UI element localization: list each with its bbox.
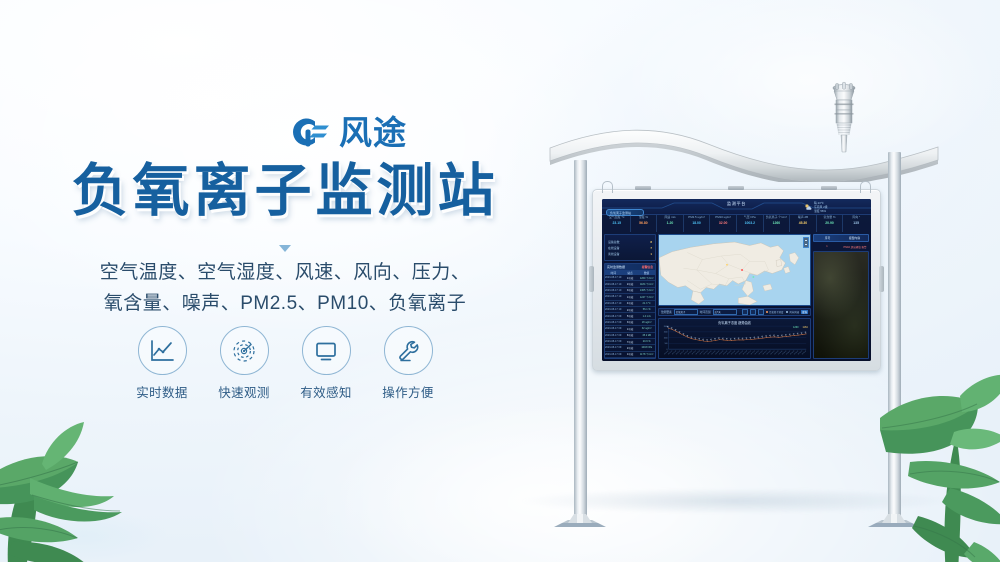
feature-label: 操作方便	[382, 382, 434, 401]
cabinet-side-tab-right	[879, 266, 884, 292]
filter-select-range[interactable]: 近7天	[713, 309, 737, 315]
table-cell: 6号站	[622, 333, 639, 337]
chart-view-button-1[interactable]	[742, 309, 748, 315]
table-cell: 18 ug/m³	[638, 321, 655, 324]
metric-label: 噪声 dB	[798, 215, 808, 219]
chart-filter-bar: 监测要素 负氧离子 时间范围 近7天	[658, 308, 811, 316]
alarm-row[interactable]: 1PM10 超出阈值 报警	[813, 244, 869, 249]
wave-canopy	[548, 122, 940, 182]
chart-query-button[interactable]: 查询	[801, 310, 808, 314]
metric-label: 负氧离子 个/cm³	[766, 215, 787, 219]
table-cell: 4号站	[622, 301, 639, 305]
metric-value: 20.90	[825, 221, 834, 225]
device-stat-row: 设备总数8	[608, 240, 652, 244]
table-cell: 1247 个/cm³	[638, 295, 655, 299]
feature-label: 快速观测	[218, 382, 270, 401]
table-header-cell: 数值	[638, 271, 655, 275]
center-column: 监测要素 负氧离子 时间范围 近7天	[658, 234, 811, 359]
alarm-body: 1PM10 超出阈值 报警	[813, 244, 869, 249]
svg-text:500: 500	[665, 343, 668, 345]
metric-label: PM10 ug/m³	[715, 215, 731, 219]
weather-widget: 晴 23℃ 东南风 2级 湿度 56%	[804, 201, 868, 213]
table-cell: 1184 个/cm³	[638, 282, 655, 286]
table-cell: 2023-08-17 09:40	[605, 334, 622, 337]
metric-value: 1.20	[667, 221, 674, 225]
table-cell: 1305 个/cm³	[638, 288, 655, 292]
cabinet-clip-2	[728, 186, 744, 190]
device-stat-label: 离线设备	[608, 252, 620, 256]
support-post-left	[574, 160, 587, 520]
table-cell: 2023-08-17 10:15	[605, 289, 622, 292]
table-cell: 5号站	[622, 314, 639, 318]
dashboard-header: 监测平台 晴 23℃ 东南风 2级 湿度 5	[602, 199, 871, 215]
metric-card: 风向 °135	[843, 215, 869, 232]
filter-label-element: 监测要素	[661, 310, 672, 314]
device-stat-value: 8	[650, 240, 652, 244]
table-cell: 1003 hPa	[638, 346, 655, 349]
table-caption-text: 实时监测数据	[607, 265, 625, 269]
metric-label: 空气温度 ℃	[609, 215, 625, 219]
table-cell: 3号站	[622, 288, 639, 292]
spec-line-1: 空气温度、空气湿度、风速、风向、压力、	[0, 258, 570, 289]
metric-card: 湿度 %56.80	[631, 215, 658, 232]
table-cell: 1号站	[622, 327, 639, 331]
feature-item-fast-observation[interactable]: 快速观测	[217, 326, 272, 401]
table-header-cell: 站点	[622, 271, 639, 275]
metric-label: 风速 m/s	[664, 215, 675, 219]
left-column: 设备总数8在线设备7离线设备1 实时监测数据 报警信息 时间站点数值 2023-…	[604, 234, 656, 359]
metric-strip: 空气温度 ℃23.15湿度 %56.80风速 m/s1.20PM2.5 ug/m…	[604, 215, 869, 232]
base-plate-left	[552, 512, 608, 530]
table-cell: 1号站	[622, 295, 639, 299]
device-stat-row: 在线设备7	[608, 246, 652, 250]
device-stat-label: 在线设备	[608, 246, 620, 250]
metric-value: 1260	[773, 221, 781, 225]
hanger-right-icon	[860, 181, 871, 193]
cabinet-side-tab-left	[589, 266, 594, 292]
chart-view-button-3[interactable]	[758, 309, 764, 315]
table-cell: 2023-08-17 10:00	[605, 308, 622, 311]
metric-card: 负氧离子 个/cm³1260	[764, 215, 791, 232]
table-cell: 2号站	[622, 308, 639, 312]
metric-value: 45.30	[799, 221, 808, 225]
table-row[interactable]: 2023-08-17 09:251号站1178 个/cm³	[605, 352, 655, 358]
legend-dot-1	[766, 311, 768, 313]
metric-card: PM2.5 ug/m³18.00	[684, 215, 711, 232]
filter-select-element-value: 负氧离子	[676, 310, 686, 314]
decorative-plant-bottom-left	[0, 378, 172, 562]
table-header-row: 时间站点数值	[605, 270, 655, 275]
decorative-plant-bottom-right	[850, 366, 1000, 562]
brand-lockup: 风途	[285, 112, 407, 152]
dashboard: 监测平台 晴 23℃ 东南风 2级 湿度 5	[602, 199, 871, 361]
device-stat-value: 7	[650, 246, 652, 250]
table-cell: 2023-08-17 10:10	[605, 295, 622, 298]
table-cell: 2023-08-17 10:25	[605, 276, 622, 279]
chart-legend: 负氧离子浓度 风向风速	[766, 310, 799, 314]
spec-list: 空气温度、空气湿度、风速、风向、压力、 氧含量、噪声、PM2.5、PM10、负氧…	[0, 258, 570, 320]
table-cell: 2号站	[622, 282, 639, 286]
display-screen[interactable]: 监测平台 晴 23℃ 东南风 2级 湿度 5	[602, 199, 871, 361]
monitor-icon	[302, 326, 351, 375]
table-cell: 2023-08-17 09:45	[605, 327, 622, 330]
metric-value: 18.00	[692, 221, 701, 225]
legend-item-2: 风向风速	[786, 310, 799, 314]
table-caption-alert: 报警信息	[642, 265, 653, 269]
wind-g-logo-icon	[285, 112, 331, 152]
alarm-cell: PM10 超出阈值 报警	[841, 245, 869, 249]
cabinet-clip-3	[821, 186, 837, 190]
device-stats-panel: 设备总数8在线设备7离线设备1	[604, 234, 656, 261]
map-zoom-control[interactable]	[803, 237, 809, 248]
table-cell: 1178 个/cm³	[638, 352, 655, 356]
table-body: 2023-08-17 10:251号站1260 个/cm³2023-08-17 …	[605, 275, 655, 358]
table-cell: 1260 个/cm³	[638, 276, 655, 280]
table-cell: 32 ug/m³	[638, 327, 655, 330]
feature-item-effective-sensing[interactable]: 有效感知	[299, 326, 354, 401]
display-cabinet: 监测平台 晴 23℃ 东南风 2级 湿度 5	[592, 189, 881, 371]
legend-label-1: 负氧离子浓度	[769, 311, 783, 314]
table-cell: 2023-08-17 09:50	[605, 321, 622, 324]
table-cell: 2023-08-17 09:55	[605, 315, 622, 318]
realtime-data-table[interactable]: 实时监测数据 报警信息 时间站点数值 2023-08-17 10:251号站12…	[604, 263, 656, 359]
table-cell: 2023-08-17 09:30	[605, 346, 622, 349]
device-stat-row: 离线设备1	[608, 252, 652, 256]
camera-feed[interactable]	[813, 251, 869, 359]
filter-label-range: 时间范围	[700, 310, 711, 314]
metric-value: 32.00	[719, 221, 728, 225]
trend-chart-plot: 2000150010005000	[659, 319, 810, 358]
metric-card: 噪声 dB45.30	[790, 215, 817, 232]
metric-value: 56.80	[639, 221, 648, 225]
metric-card: 空气温度 ℃23.15	[604, 215, 631, 232]
line-chart-icon	[138, 326, 187, 375]
feature-label: 有效感知	[300, 382, 352, 401]
table-cell: 1.4 m/s	[638, 315, 655, 318]
metric-card: 气压 hPa1003.2	[737, 215, 764, 232]
hanger-left-icon	[602, 181, 613, 193]
right-column: 序号报警内容 1PM10 超出阈值 报警	[813, 234, 869, 359]
alarm-cell: 1	[813, 245, 841, 248]
metric-card: 氧含量 %20.90	[817, 215, 844, 232]
table-cell: 2号站	[622, 346, 639, 350]
metric-card: 风速 m/s1.20	[657, 215, 684, 232]
promo-banner: 风途 负氧离子监测站 空气温度、空气湿度、风速、风向、压力、 氧含量、噪声、PM…	[0, 0, 1000, 562]
trend-chart[interactable]: 负氧离子浓度 趋势曲线 2000150010005000	[658, 318, 811, 359]
cabinet-clip-1	[635, 186, 651, 190]
svg-text:08-16 20: 08-16 20	[802, 350, 808, 355]
filter-select-range-value: 近7天	[715, 310, 721, 314]
metric-value: 135	[853, 221, 859, 225]
svg-text:1000: 1000	[664, 338, 668, 340]
dashboard-body: 设备总数8在线设备7离线设备1 实时监测数据 报警信息 时间站点数值 2023-…	[604, 234, 869, 359]
table-cell: 56.1 %	[638, 308, 655, 311]
weather-line-3: 湿度 56%	[814, 209, 828, 213]
china-map[interactable]	[658, 234, 811, 306]
station-name-label: 负氧离子监测站	[610, 211, 631, 215]
table-header-cell: 时间	[605, 271, 622, 275]
table-cell: 1号站	[622, 352, 639, 356]
table-cell: 2023-08-17 09:25	[605, 353, 622, 356]
device-stat-label: 设备总数	[608, 240, 620, 244]
table-cell: 7号站	[622, 340, 639, 344]
alarm-header-cell: 报警内容	[841, 236, 868, 240]
alarm-header-cell: 序号	[814, 236, 841, 240]
metric-label: 气压 hPa	[744, 215, 756, 219]
brand-name: 风途	[339, 116, 407, 149]
divider-arrow-icon	[279, 245, 291, 252]
legend-label-2: 风向风速	[789, 311, 799, 314]
table-cell: 1号站	[622, 276, 639, 280]
device-stat-value: 1	[650, 252, 652, 256]
svg-text:1500: 1500	[664, 332, 668, 334]
alarm-header-row: 序号报警内容	[813, 234, 869, 242]
table-cell: 2023-08-17 10:05	[605, 302, 622, 305]
table-cell: 20.9 %	[638, 340, 655, 343]
table-cell: 3号站	[622, 320, 639, 324]
radar-signal-icon	[220, 326, 269, 375]
metric-value: 1003.2	[745, 221, 755, 225]
metric-label: 风向 °	[852, 215, 860, 219]
chart-toolbar: 负氧离子浓度 风向风速 查询	[742, 309, 808, 315]
svg-text:1184: 1184	[802, 326, 808, 329]
svg-text:1260: 1260	[793, 326, 799, 329]
table-cell: 2023-08-17 09:35	[605, 340, 622, 343]
metric-label: PM2.5 ug/m³	[688, 215, 705, 219]
table-cell: 2023-08-17 10:20	[605, 283, 622, 286]
wrench-icon	[384, 326, 433, 375]
metric-value: 23.15	[613, 221, 622, 225]
page-title: 负氧离子监测站	[0, 160, 570, 224]
spec-line-2: 氧含量、噪声、PM2.5、PM10、负氧离子	[0, 289, 570, 320]
table-cell: 45.2 dB	[638, 334, 655, 337]
metric-label: 湿度 %	[639, 215, 648, 219]
feature-item-easy-operation[interactable]: 操作方便	[381, 326, 436, 401]
table-cell: 21.3 ℃	[638, 302, 655, 305]
metric-label: 氧含量 %	[824, 215, 836, 219]
chart-view-button-2[interactable]	[750, 309, 756, 315]
filter-select-element[interactable]: 负氧离子	[674, 309, 698, 315]
sun-cloud-icon	[804, 203, 812, 211]
legend-item-1: 负氧离子浓度	[766, 310, 783, 314]
metric-card: PM10 ug/m³32.00	[710, 215, 737, 232]
